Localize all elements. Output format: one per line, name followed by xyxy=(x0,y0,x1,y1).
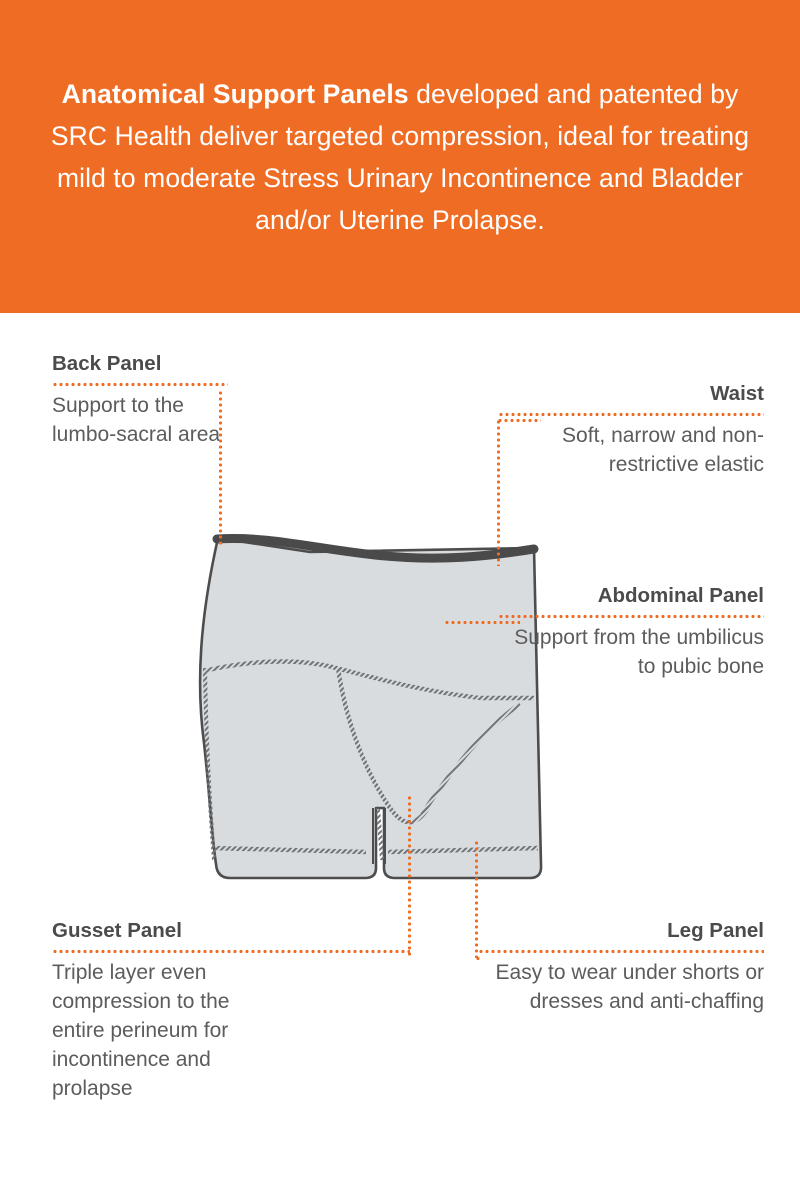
garment-illustration xyxy=(160,508,580,903)
callout-body-gusset-panel: Triple layer even compression to the ent… xyxy=(52,958,264,1103)
dotted-rule-abdominal-panel xyxy=(498,615,764,618)
callout-body-abdominal-panel: Support from the umbilicus to pubic bone xyxy=(498,623,764,681)
connector-waist-horizontal xyxy=(497,419,541,422)
callout-gusset-panel: Gusset Panel Triple layer even compressi… xyxy=(52,918,264,1103)
callout-waist: Waist Soft, narrow and non-restrictive e… xyxy=(498,381,764,479)
banner-paragraph: Anatomical Support Panels developed and … xyxy=(46,73,754,241)
infographic-page: Anatomical Support Panels developed and … xyxy=(0,0,800,1200)
gusset-stub-seam xyxy=(378,808,382,860)
callout-title-leg-panel: Leg Panel xyxy=(478,918,764,944)
banner-lead-text: Anatomical Support Panels xyxy=(62,79,409,109)
connector-abdominal-panel-horizontal xyxy=(444,621,520,624)
callout-back-panel: Back Panel Support to the lumbo-sacral a… xyxy=(52,351,228,449)
header-banner: Anatomical Support Panels developed and … xyxy=(0,0,800,313)
connector-gusset-panel-vertical xyxy=(408,795,411,957)
dotted-rule-waist xyxy=(498,413,764,416)
connector-leg-panel-vertical xyxy=(475,840,478,958)
callout-title-back-panel: Back Panel xyxy=(52,351,228,377)
garment-body-shape xyxy=(200,538,541,878)
dotted-rule-back-panel xyxy=(52,383,228,386)
callout-title-abdominal-panel: Abdominal Panel xyxy=(498,583,764,609)
connector-waist-vertical xyxy=(497,419,500,566)
dotted-rule-leg-panel xyxy=(478,950,764,953)
diagram-stage: Back Panel Support to the lumbo-sacral a… xyxy=(0,313,800,1200)
callout-title-waist: Waist xyxy=(498,381,764,407)
callout-leg-panel: Leg Panel Easy to wear under shorts or d… xyxy=(478,918,764,1016)
callout-abdominal-panel: Abdominal Panel Support from the umbilic… xyxy=(498,583,764,681)
callout-body-back-panel: Support to the lumbo-sacral area xyxy=(52,391,228,449)
callout-body-waist: Soft, narrow and non-restrictive elastic xyxy=(498,421,764,479)
compression-shorts-svg xyxy=(160,508,580,898)
callout-title-gusset-panel: Gusset Panel xyxy=(52,918,264,944)
connector-back-panel-vertical xyxy=(219,390,222,545)
callout-body-leg-panel: Easy to wear under shorts or dresses and… xyxy=(478,958,764,1016)
dotted-rule-gusset-panel xyxy=(52,950,410,953)
